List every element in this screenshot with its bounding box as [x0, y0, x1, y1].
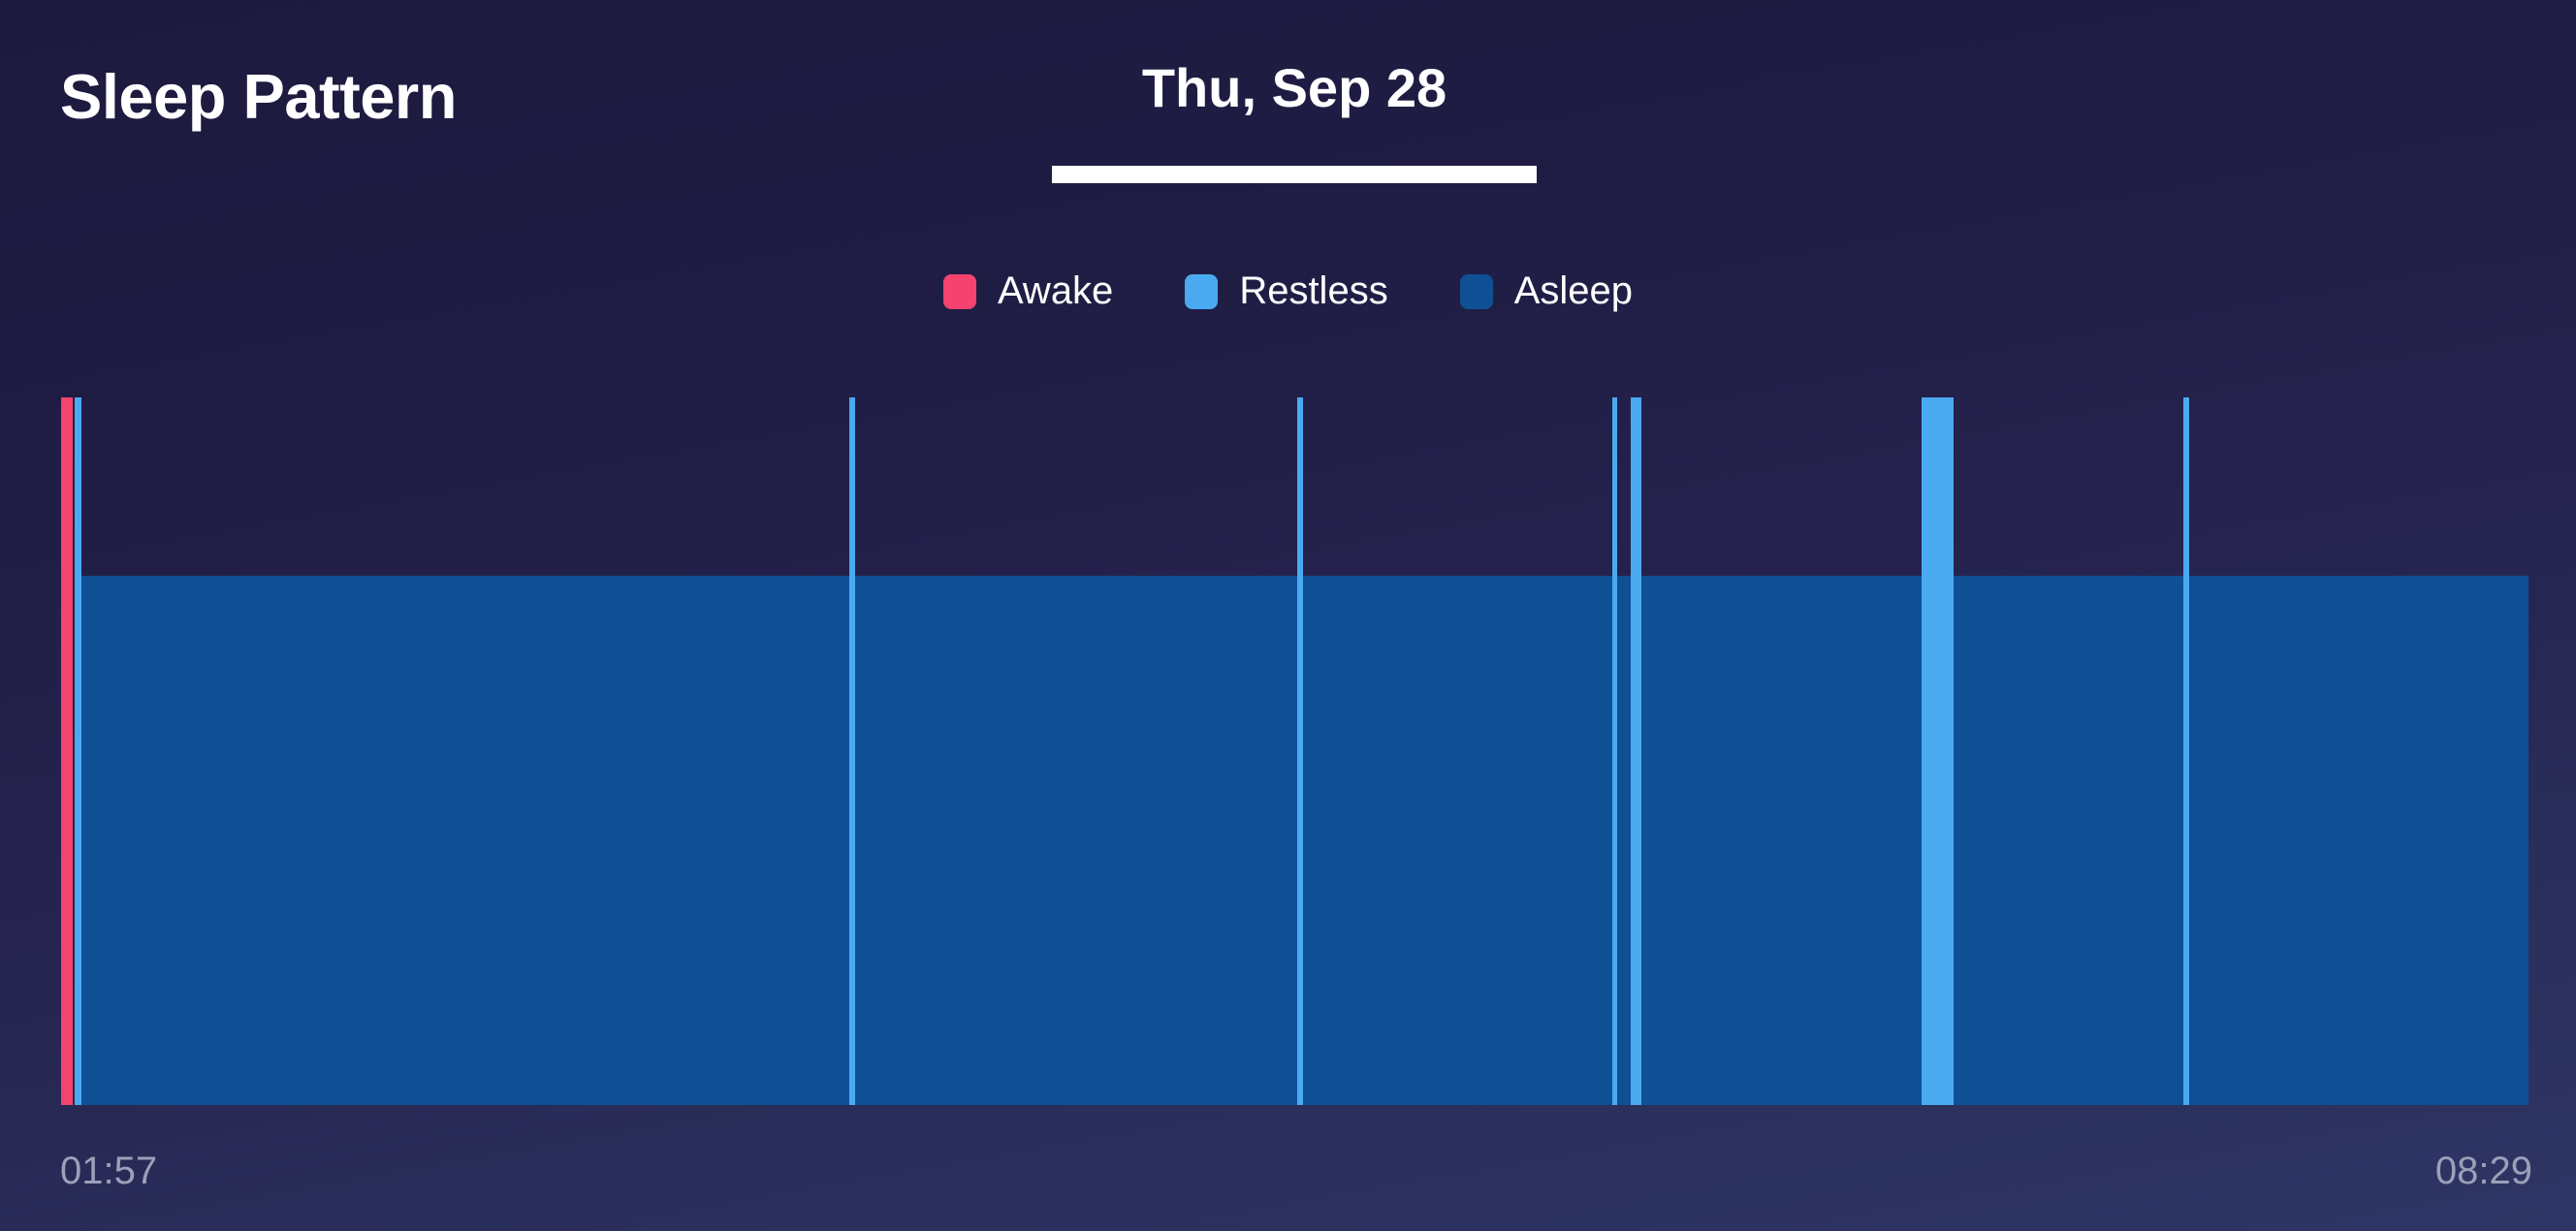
- chart-bar-restless[interactable]: [1612, 397, 1617, 1105]
- chart-bar-restless[interactable]: [2183, 397, 2189, 1105]
- chart-bar-restless[interactable]: [1297, 397, 1303, 1105]
- chart-bar-restless[interactable]: [1922, 397, 1954, 1105]
- tab-date-label: Thu, Sep 28: [1052, 58, 1537, 118]
- sleep-pattern-card: Sleep Pattern Thu, Sep 28 AwakeRestlessA…: [0, 0, 2576, 1231]
- legend-label: Awake: [998, 269, 1113, 313]
- tab-date-selector[interactable]: Thu, Sep 28: [1052, 58, 1537, 183]
- sleep-pattern-chart[interactable]: [60, 397, 2528, 1105]
- axis-label-start-time: 01:57: [60, 1150, 157, 1193]
- legend-label: Restless: [1239, 269, 1387, 313]
- asleep-band: [81, 576, 2528, 1105]
- legend-swatch-restless: [1185, 274, 1218, 309]
- page-title: Sleep Pattern: [60, 60, 457, 133]
- chart-bar-restless[interactable]: [849, 397, 855, 1105]
- legend-label: Asleep: [1514, 269, 1633, 313]
- chart-bar-restless[interactable]: [1631, 397, 1641, 1105]
- chart-bar-restless[interactable]: [75, 397, 81, 1105]
- legend-item-restless[interactable]: Restless: [1185, 269, 1387, 313]
- chart-legend: AwakeRestlessAsleep: [0, 269, 2576, 313]
- tab-active-underline: [1052, 166, 1537, 183]
- chart-bar-awake[interactable]: [61, 397, 73, 1105]
- legend-swatch-asleep: [1460, 274, 1493, 309]
- legend-item-asleep[interactable]: Asleep: [1460, 269, 1633, 313]
- legend-item-awake[interactable]: Awake: [943, 269, 1113, 313]
- axis-label-end-time: 08:29: [2435, 1150, 2532, 1193]
- legend-swatch-awake: [943, 274, 976, 309]
